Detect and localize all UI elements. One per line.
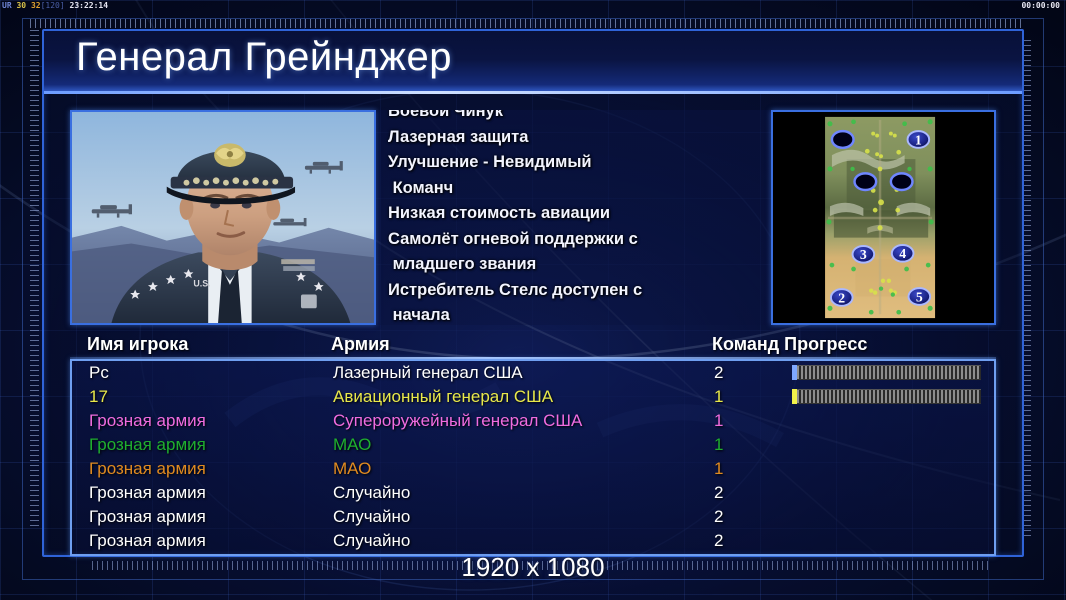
ability-item: Истребитель Стелс доступен с [388, 278, 768, 304]
status-clock: 23:22:14 [70, 1, 109, 10]
status-bracket-value: [120] [41, 1, 65, 10]
player-table-rows: РсЛазерный генерал США217Авиационный ген… [72, 361, 994, 553]
cell-team: 1 [714, 409, 723, 433]
status-bar: UR 30 32[120] 23:22:14 00:00:00 [0, 0, 1066, 12]
cell-progress-bar [792, 389, 980, 404]
cell-player-name: Рс [89, 361, 109, 385]
cell-team: 1 [714, 433, 723, 457]
table-row[interactable]: Грозная армияМАО1 [72, 433, 994, 457]
player-table-header: Имя игрока Армия Команд Прогресс [70, 334, 996, 358]
status-value-2: 32 [31, 1, 41, 10]
cell-army: Случайно [333, 529, 410, 553]
ability-item: младшего звания [388, 252, 768, 278]
table-row[interactable]: 17Авиационный генерал США1 [72, 385, 994, 409]
status-fps-label: UR [2, 1, 12, 10]
player-table: РсЛазерный генерал США217Авиационный ген… [70, 359, 996, 556]
map-artwork: 1 3 4 2 5 [773, 112, 994, 323]
table-row[interactable]: Грозная армияСлучайно2 [72, 481, 994, 505]
svg-text:3: 3 [860, 247, 867, 262]
svg-text:2: 2 [838, 290, 845, 305]
cell-army: Супероружейный генерал США [333, 409, 582, 433]
ability-item: Низкая стоимость авиации [388, 201, 768, 227]
portrait-artwork: U.S. [72, 112, 374, 323]
cell-player-name: Грозная армия [89, 457, 206, 481]
cell-team: 2 [714, 361, 723, 385]
cell-player-name: Грозная армия [89, 481, 206, 505]
cell-army: Лазерный генерал США [333, 361, 523, 385]
game-screen: UR 30 32[120] 23:22:14 00:00:00 Генерал … [0, 0, 1066, 600]
general-portrait: U.S. [70, 110, 376, 325]
svg-text:5: 5 [916, 289, 923, 304]
ability-item: Боевой Чинук [388, 110, 768, 125]
svg-text:1: 1 [915, 132, 922, 147]
ability-item: начала [388, 303, 768, 325]
cell-team: 2 [714, 481, 723, 505]
status-bar-left: UR 30 32[120] 23:22:14 [2, 0, 108, 12]
column-header-player-name: Имя игрока [87, 334, 188, 355]
cell-army: Случайно [333, 481, 410, 505]
svg-text:U.S.: U.S. [193, 279, 210, 289]
cell-player-name: 17 [89, 385, 108, 409]
progress-bar [792, 365, 980, 380]
resolution-label: 1920 x 1080 [0, 552, 1066, 583]
cell-army: МАО [333, 457, 371, 481]
column-header-army: Армия [331, 334, 390, 355]
title-bar: Генерал Грейнджер [44, 31, 1022, 94]
table-row[interactable]: РсЛазерный генерал США2 [72, 361, 994, 385]
cell-army: МАО [333, 433, 371, 457]
ability-item: Лазерная защита [388, 125, 768, 151]
cell-player-name: Грозная армия [89, 433, 206, 457]
cell-player-name: Грозная армия [89, 529, 206, 553]
svg-text:4: 4 [899, 246, 906, 261]
content-row: U.S. Боевой Чинук Лазерная защита Улучше… [70, 110, 996, 325]
progress-bar-track [797, 365, 981, 380]
table-row[interactable]: Грозная армияСлучайно2 [72, 505, 994, 529]
progress-bar [792, 389, 980, 404]
cell-player-name: Грозная армия [89, 409, 206, 433]
progress-bar-track [797, 389, 981, 404]
cell-player-name: Грозная армия [89, 505, 206, 529]
table-row[interactable]: Грозная армияМАО1 [72, 457, 994, 481]
cell-team: 1 [714, 457, 723, 481]
cell-army: Авиационный генерал США [333, 385, 553, 409]
column-header-team-progress: Команд Прогресс [712, 334, 867, 355]
status-value-1: 30 [16, 1, 26, 10]
table-row[interactable]: Грозная армияСупероружейный генерал США1 [72, 409, 994, 433]
page-title: Генерал Грейнджер [76, 35, 452, 80]
cell-progress-bar [792, 365, 980, 380]
cell-team: 2 [714, 529, 723, 553]
cell-team: 2 [714, 505, 723, 529]
table-row[interactable]: Грозная армияСлучайно2 [72, 529, 994, 553]
general-description-panel: Боевой Чинук Лазерная защита Улучшение -… [376, 110, 771, 325]
ability-item: Улучшение - Невидимый [388, 150, 768, 176]
ability-item: Команч [388, 176, 768, 202]
ability-item: Самолёт огневой поддержки с [388, 227, 768, 253]
general-ability-list: Боевой Чинук Лазерная защита Улучшение -… [388, 110, 768, 325]
status-timer: 00:00:00 [1021, 0, 1060, 12]
cell-army: Случайно [333, 505, 410, 529]
map-preview[interactable]: 1 3 4 2 5 [771, 110, 996, 325]
cell-team: 1 [714, 385, 723, 409]
